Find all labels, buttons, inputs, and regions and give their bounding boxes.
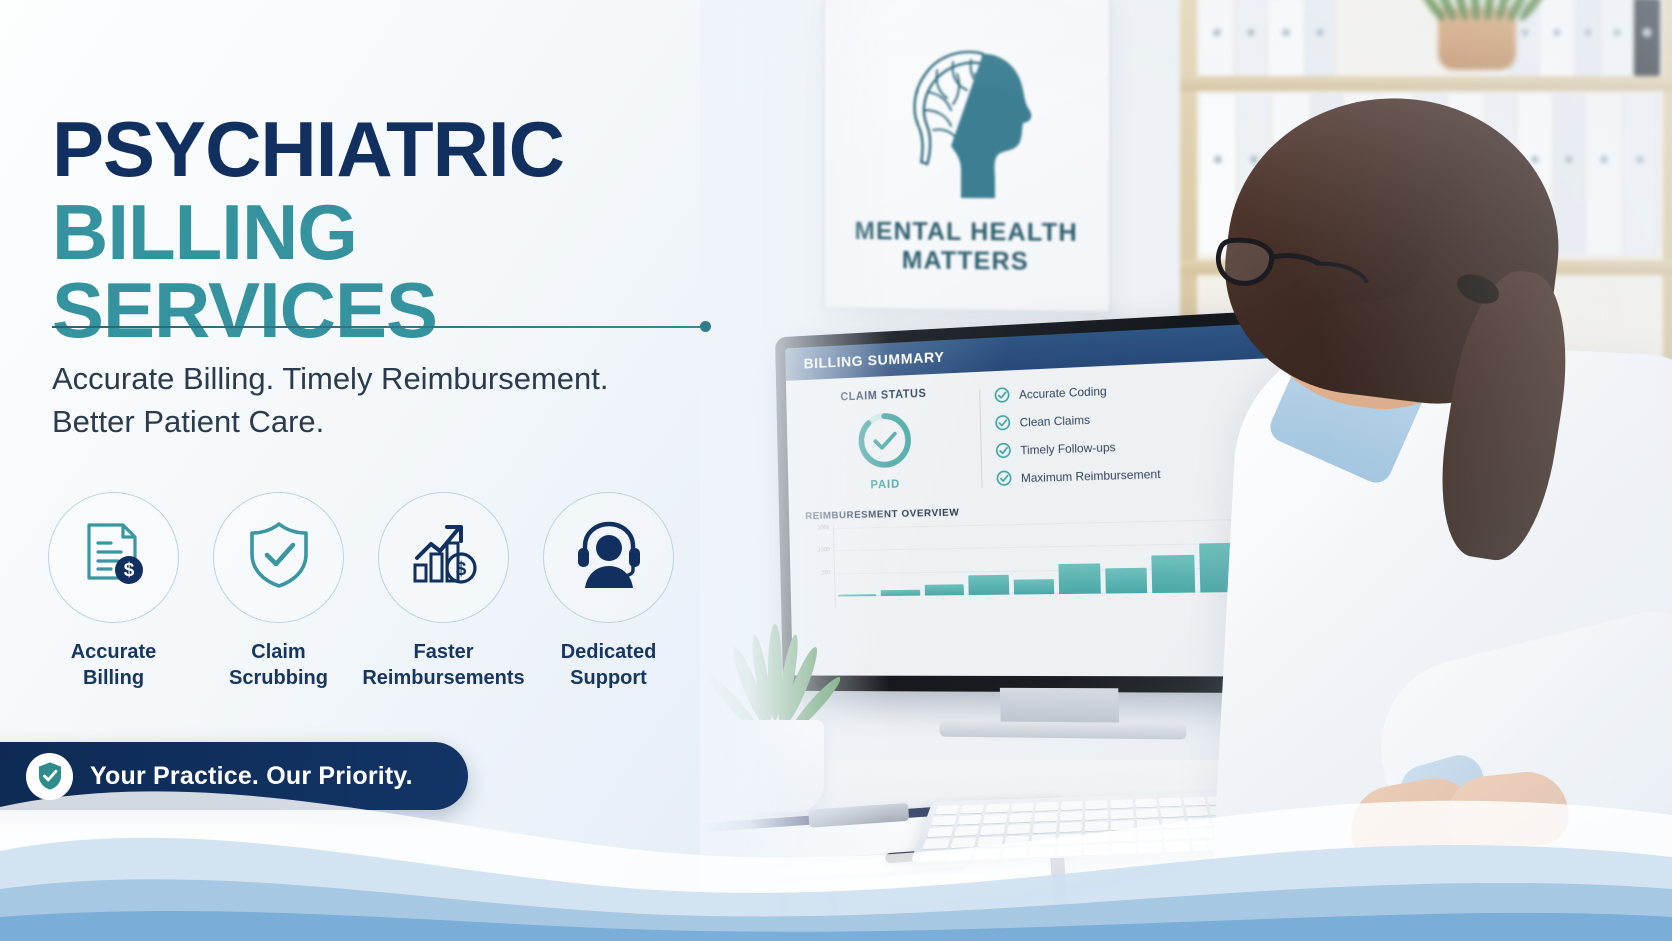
- feature-label: FasterReimbursements: [362, 639, 524, 692]
- doctor-person: [1050, 40, 1672, 941]
- growth-chart-dollar-icon: $: [407, 518, 481, 597]
- left-content-panel: PSYCHIATRIC BILLING SERVICES Accurate Bi…: [0, 0, 760, 941]
- feature-item-1[interactable]: $ AccurateBilling: [48, 492, 179, 692]
- brain-head-profile-icon: [866, 28, 1066, 210]
- claim-status-value: PAID: [870, 477, 900, 491]
- chart-bar: [969, 575, 1009, 595]
- chart-bar: [838, 594, 876, 597]
- document-dollar-icon: $: [77, 518, 151, 597]
- keyboard-key[interactable]: [918, 850, 946, 861]
- keyboard-key[interactable]: [935, 805, 960, 814]
- keyboard-key[interactable]: [1004, 835, 1029, 846]
- screen-vertical-divider: [979, 390, 982, 489]
- poster-line-1: MENTAL HEALTH: [855, 217, 1078, 248]
- chart-x-tick: ····: [881, 597, 920, 608]
- keyboard-key[interactable]: [1002, 847, 1028, 858]
- chart-x-tick: ····: [969, 596, 1009, 607]
- feature-icon-circle: [543, 492, 674, 623]
- circle-check-icon: [994, 414, 1011, 431]
- chart-bar: [925, 584, 965, 595]
- cta-banner[interactable]: Your Practice. Our Priority.: [0, 742, 468, 810]
- office-photo-scene: MENTAL HEALTH MATTERS BILLING SUMMARY CL…: [700, 0, 1672, 941]
- keyboard-key[interactable]: [980, 825, 1005, 835]
- poster-line-2: MATTERS: [855, 246, 1078, 278]
- keyboard-key[interactable]: [1006, 824, 1031, 834]
- feature-label: ClaimScrubbing: [229, 639, 328, 692]
- headline-block: PSYCHIATRIC BILLING SERVICES: [52, 112, 760, 349]
- claim-status-panel: CLAIM STATUS PAID: [803, 386, 969, 503]
- cta-text: Your Practice. Our Priority.: [90, 762, 413, 791]
- headline-divider: [52, 326, 702, 328]
- keyboard-key[interactable]: [957, 815, 982, 825]
- feature-list: $ AccurateBilling ClaimScrubbing $ Faste…: [48, 492, 718, 692]
- keyboard-key[interactable]: [954, 826, 980, 836]
- keyboard-key[interactable]: [960, 804, 984, 813]
- divider-dot: [700, 321, 711, 332]
- keyboard-key[interactable]: [950, 837, 976, 848]
- headset-agent-icon: [572, 518, 646, 597]
- chart-y-tick: 200: [821, 570, 830, 576]
- shield-check-icon: [242, 518, 316, 597]
- chart-x-tick: ····: [925, 596, 965, 607]
- svg-text:$: $: [123, 560, 134, 581]
- banner-stage: MENTAL HEALTH MATTERS BILLING SUMMARY CL…: [0, 0, 1672, 941]
- chart-bar: [1014, 579, 1055, 594]
- feature-item-2[interactable]: ClaimScrubbing: [213, 492, 344, 692]
- keyboard-key[interactable]: [946, 849, 973, 860]
- chart-x-tick: ····: [838, 597, 877, 608]
- circle-check-icon: [994, 386, 1011, 404]
- circle-check-icon: [996, 470, 1013, 487]
- feature-icon-circle: $: [48, 492, 179, 623]
- chart-y-tick: 1000: [818, 547, 830, 553]
- shield-check-badge-icon: [26, 753, 73, 800]
- keyboard-key[interactable]: [1011, 803, 1034, 812]
- feature-item-3[interactable]: $ FasterReimbursements: [378, 492, 509, 692]
- claim-status-title: CLAIM STATUS: [840, 388, 926, 403]
- claim-status-donut: [855, 409, 914, 471]
- plant-leaf: [1483, 0, 1497, 20]
- keyboard-key[interactable]: [977, 836, 1003, 847]
- keyboard-key[interactable]: [931, 816, 957, 826]
- keyboard-key[interactable]: [974, 848, 1000, 859]
- chart-x-tick: ····: [1014, 595, 1055, 606]
- keyboard-key[interactable]: [1009, 813, 1033, 823]
- poster-text: MENTAL HEALTH MATTERS: [855, 217, 1078, 278]
- keyboard-key[interactable]: [923, 838, 950, 849]
- feature-icon-circle: $: [378, 492, 509, 623]
- chart-y-tick: 100k: [817, 526, 829, 532]
- headline-line-1: PSYCHIATRIC: [52, 112, 760, 187]
- keyboard-key[interactable]: [983, 814, 1007, 824]
- shelf-plant-leaves: [1425, 0, 1530, 20]
- circle-check-icon: [995, 442, 1012, 459]
- keyboard-key[interactable]: [985, 804, 1009, 813]
- subtitle: Accurate Billing. Timely Reimbursement. …: [52, 358, 692, 444]
- screen-header-title: BILLING SUMMARY: [803, 348, 944, 371]
- plant-leaf: [1469, 0, 1481, 20]
- feature-item-4[interactable]: DedicatedSupport: [543, 492, 674, 692]
- feature-icon-circle: [213, 492, 344, 623]
- feature-label: AccurateBilling: [71, 639, 157, 692]
- svg-text:$: $: [455, 559, 466, 580]
- chart-bar: [881, 590, 920, 596]
- keyboard-key[interactable]: [927, 827, 953, 837]
- chart-y-axis: 100k1000200: [806, 525, 835, 608]
- feature-label: DedicatedSupport: [561, 639, 657, 692]
